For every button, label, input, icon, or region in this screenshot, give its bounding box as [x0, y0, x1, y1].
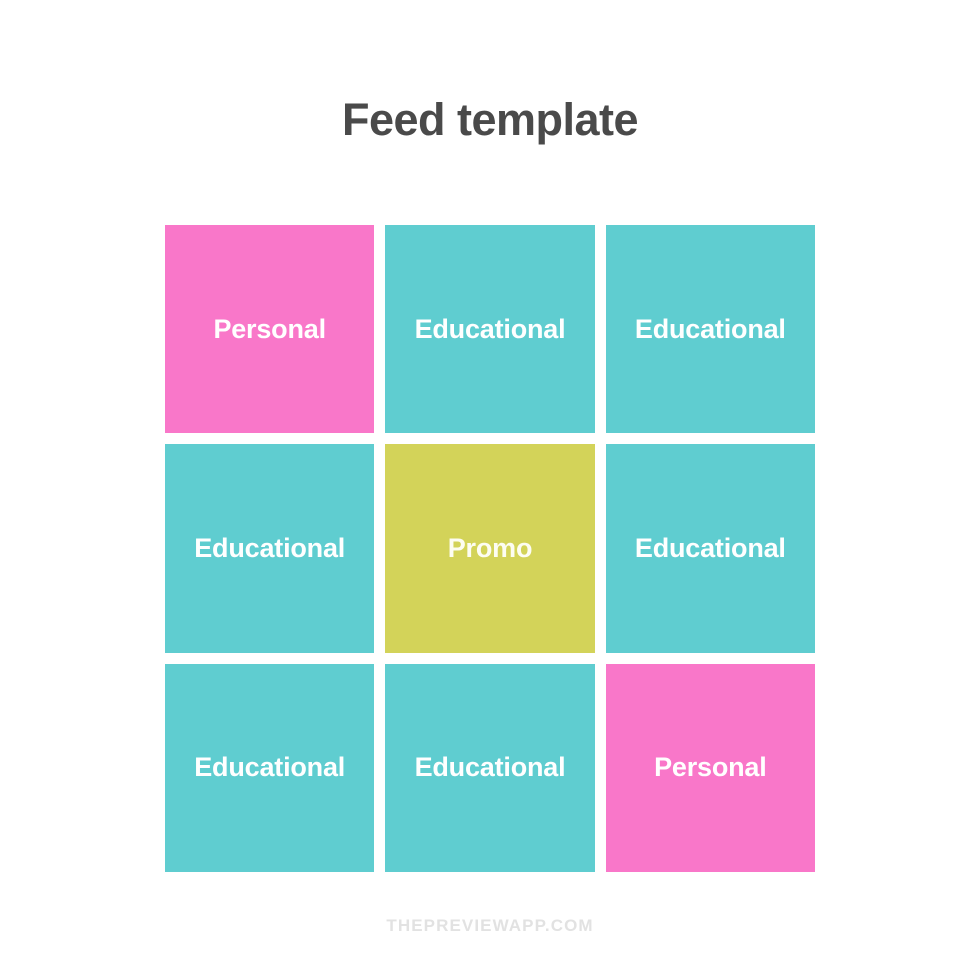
page-title: Feed template [0, 92, 980, 148]
feed-template-canvas: Feed template Personal Educational Educa… [0, 0, 980, 980]
feed-cell-2-1[interactable]: Educational [165, 444, 374, 652]
feed-cell-label: Educational [635, 316, 786, 343]
feed-cell-label: Educational [415, 754, 566, 781]
feed-cell-3-1[interactable]: Educational [165, 664, 374, 872]
feed-cell-3-2[interactable]: Educational [385, 664, 594, 872]
feed-cell-1-1[interactable]: Personal [165, 225, 374, 433]
feed-cell-label: Educational [194, 535, 345, 562]
feed-grid: Personal Educational Educational Educati… [165, 225, 815, 872]
feed-cell-2-3[interactable]: Educational [606, 444, 815, 652]
footer-watermark: THEPREVIEWAPP.COM [0, 914, 980, 938]
feed-cell-label: Educational [635, 535, 786, 562]
feed-cell-2-2[interactable]: Promo [385, 444, 594, 652]
feed-cell-label: Personal [654, 754, 766, 781]
feed-cell-3-3[interactable]: Personal [606, 664, 815, 872]
feed-cell-label: Educational [415, 316, 566, 343]
feed-cell-1-3[interactable]: Educational [606, 225, 815, 433]
feed-cell-1-2[interactable]: Educational [385, 225, 594, 433]
feed-cell-label: Promo [448, 535, 533, 562]
feed-cell-label: Personal [213, 316, 325, 343]
feed-cell-label: Educational [194, 754, 345, 781]
